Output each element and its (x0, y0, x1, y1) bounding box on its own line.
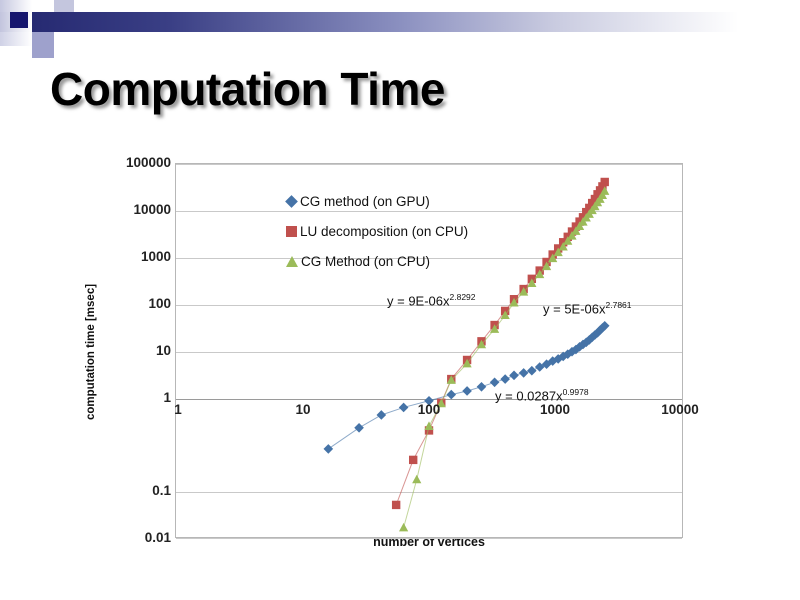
band-gradient-bar (32, 12, 800, 32)
y-tick-label-1000: 1000 (81, 249, 171, 264)
data-point (490, 377, 500, 387)
annotation-eq-lu-exponent: 2.8292 (450, 292, 476, 302)
data-point (377, 410, 387, 420)
y-tick-label-0.1: 0.1 (81, 483, 171, 498)
data-point (509, 371, 519, 381)
x-tick-label-10000: 10000 (645, 402, 715, 417)
data-point (519, 368, 529, 378)
data-point (477, 382, 487, 392)
chart-legend: CG method (on GPU) LU decomposition (on … (286, 186, 468, 276)
y-tick-label-10: 10 (81, 343, 171, 358)
diamond-marker-icon (285, 195, 298, 208)
annotation-eq-cg-cpu: y = 5E-06x2.7861 (543, 300, 632, 316)
x-tick-label-10: 10 (268, 402, 338, 417)
data-point (527, 366, 537, 376)
slide: Computation Time computation time [msec]… (0, 0, 800, 600)
page-title: Computation Time (50, 62, 445, 116)
data-point (412, 475, 421, 484)
annotation-eq-cg-gpu-exponent: 0.9978 (563, 387, 589, 397)
x-tick-label-100: 100 (394, 402, 464, 417)
square-marker-icon (286, 226, 297, 237)
data-point (500, 374, 510, 384)
gridline-0.01 (176, 538, 682, 539)
data-point (399, 523, 408, 532)
plot-area: 1 10 100 1000 10000 CG method (on GPU) L… (175, 163, 683, 538)
header-decoration-band (0, 0, 800, 56)
legend-label-cg-cpu: CG Method (on CPU) (301, 254, 430, 269)
y-tick-label-0.01: 0.01 (81, 530, 171, 545)
data-point (462, 386, 472, 396)
annotation-eq-lu: y = 9E-06x2.8292 (387, 292, 476, 308)
data-point (392, 501, 400, 509)
data-point (354, 423, 364, 433)
legend-item-cg-gpu[interactable]: CG method (on GPU) (286, 186, 468, 216)
annotation-eq-cg-cpu-text: y = 5E-06x (543, 301, 606, 316)
y-tick-label-10000: 10000 (81, 202, 171, 217)
band-block-far-left-upper (0, 0, 32, 12)
legend-label-cg-gpu: CG method (on GPU) (300, 194, 430, 209)
x-tick-label-1000: 1000 (520, 402, 590, 417)
annotation-eq-cg-gpu: y = 0.0287x0.9978 (495, 387, 589, 403)
band-block-far-left-lower (0, 32, 32, 46)
legend-label-lu-cpu: LU decomposition (on CPU) (300, 224, 468, 239)
data-point (601, 178, 609, 186)
legend-item-lu-cpu[interactable]: LU decomposition (on CPU) (286, 216, 468, 246)
legend-item-cg-cpu[interactable]: CG Method (on CPU) (286, 246, 468, 276)
annotation-eq-cg-gpu-text: y = 0.0287x (495, 388, 563, 403)
annotation-eq-cg-cpu-exponent: 2.7861 (606, 300, 632, 310)
x-tick-label-1: 1 (143, 402, 213, 417)
y-tick-label-100: 100 (81, 296, 171, 311)
y-tick-label-100000: 100000 (81, 155, 171, 170)
data-point (324, 444, 334, 454)
data-point (446, 390, 456, 400)
data-point (409, 456, 417, 464)
computation-time-chart: computation time [msec] number of vertic… (95, 150, 755, 550)
band-block-navy-square (10, 12, 28, 28)
annotation-eq-lu-text: y = 9E-06x (387, 293, 450, 308)
band-block-light-upper (54, 0, 74, 12)
triangle-marker-icon (286, 256, 298, 267)
band-block-violet-lower (32, 32, 54, 58)
